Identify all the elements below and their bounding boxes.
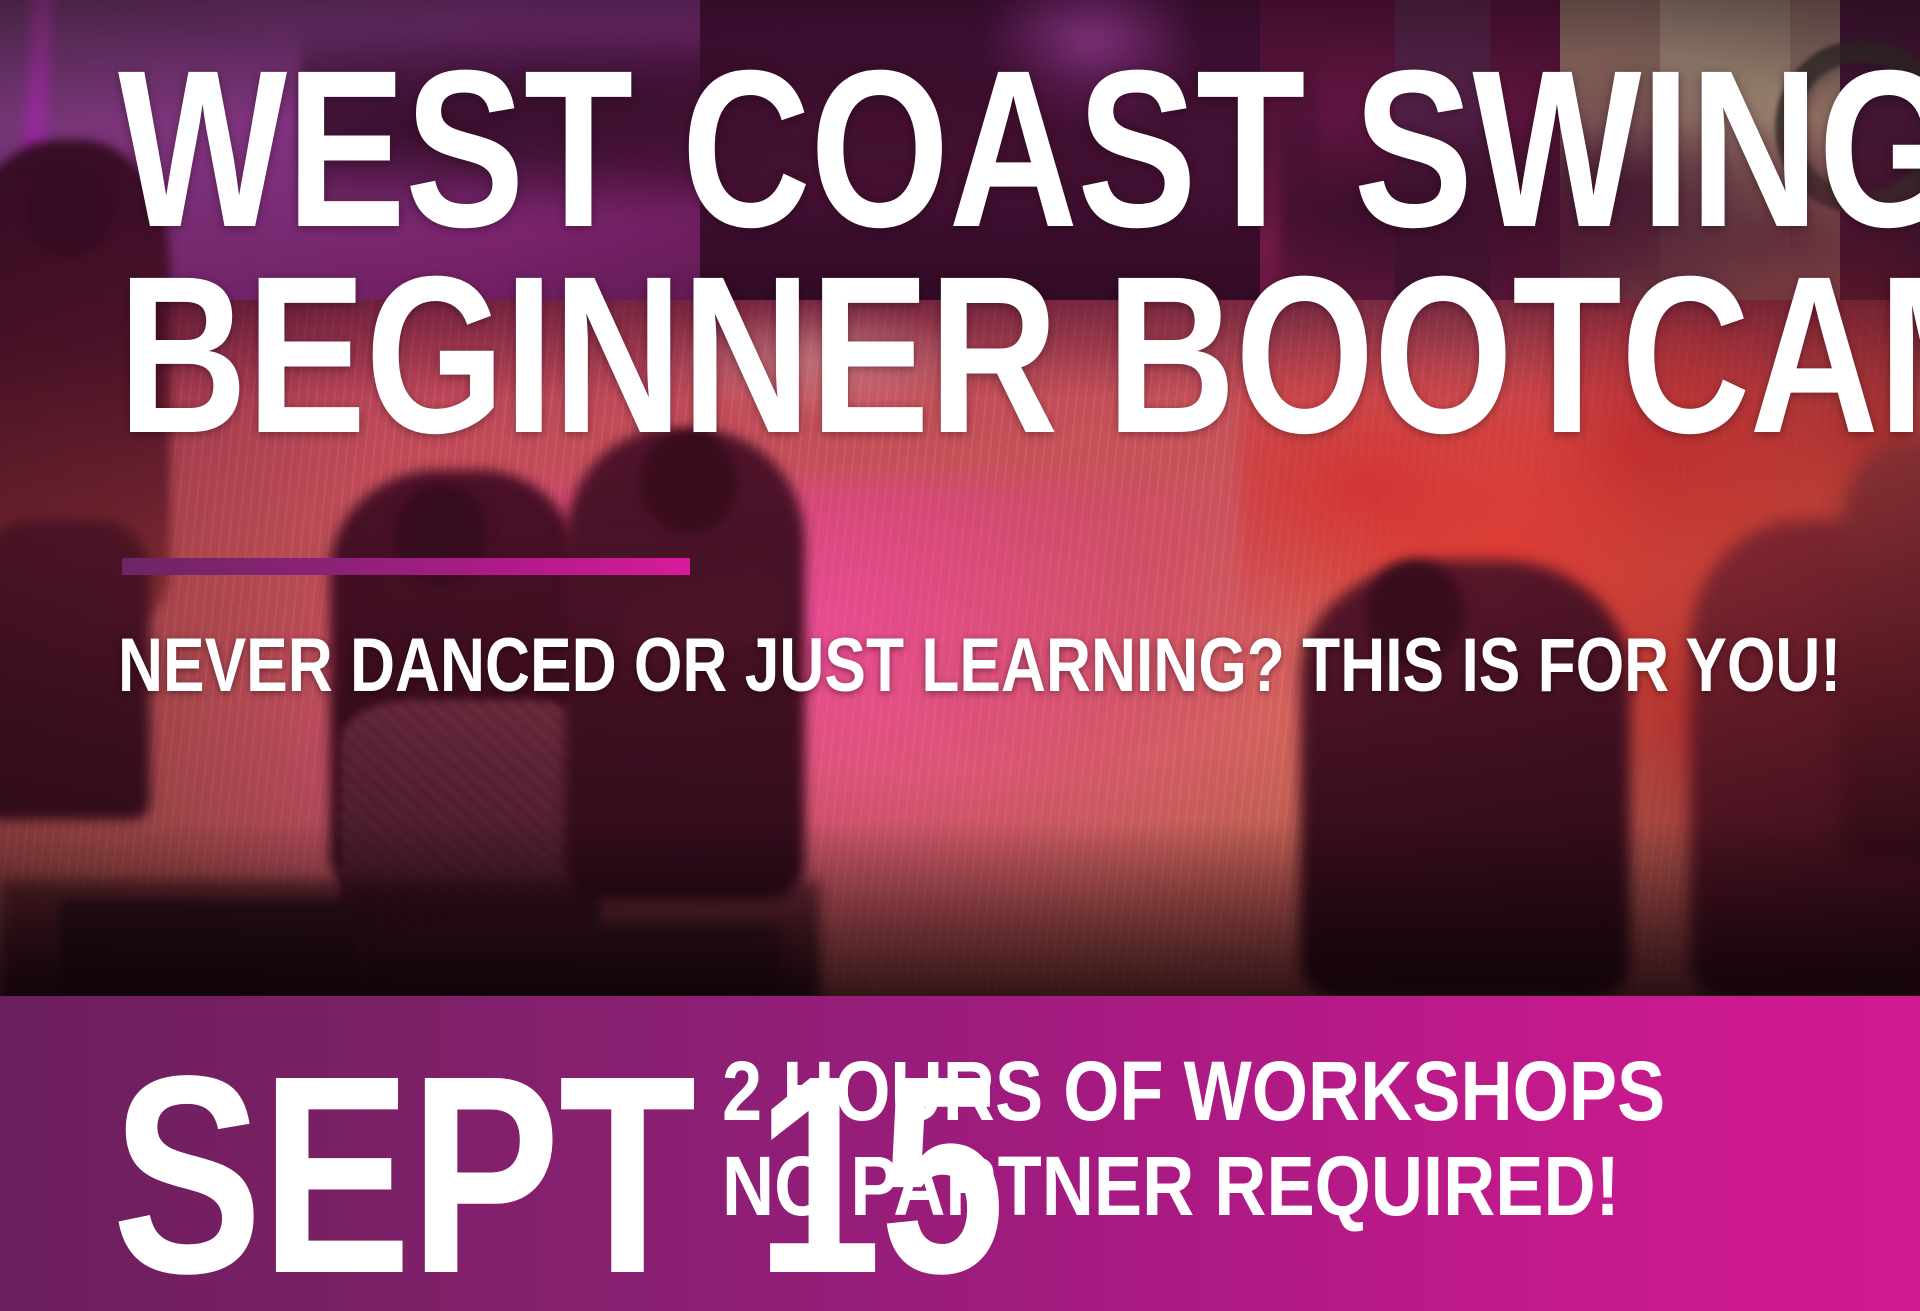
headline-line-2: BEGINNER BOOTCAMP [118, 252, 1318, 458]
event-detail-line-1: 2 HOURS OF WORKSHOPS [722, 1044, 1665, 1139]
subheadline: NEVER DANCED OR JUST LEARNING? THIS IS F… [118, 628, 1841, 704]
headline: WEST COAST SWING BEGINNER BOOTCAMP [118, 46, 1318, 458]
event-details: 2 HOURS OF WORKSHOPS NO PARTNER REQUIRED… [722, 1044, 1665, 1234]
event-detail-line-2: NO PARTNER REQUIRED! [722, 1139, 1665, 1234]
photo-bottom-shadow [0, 820, 1920, 996]
divider-rule [122, 558, 690, 575]
event-flyer: WEST COAST SWING BEGINNER BOOTCAMP NEVER… [0, 0, 1920, 1311]
